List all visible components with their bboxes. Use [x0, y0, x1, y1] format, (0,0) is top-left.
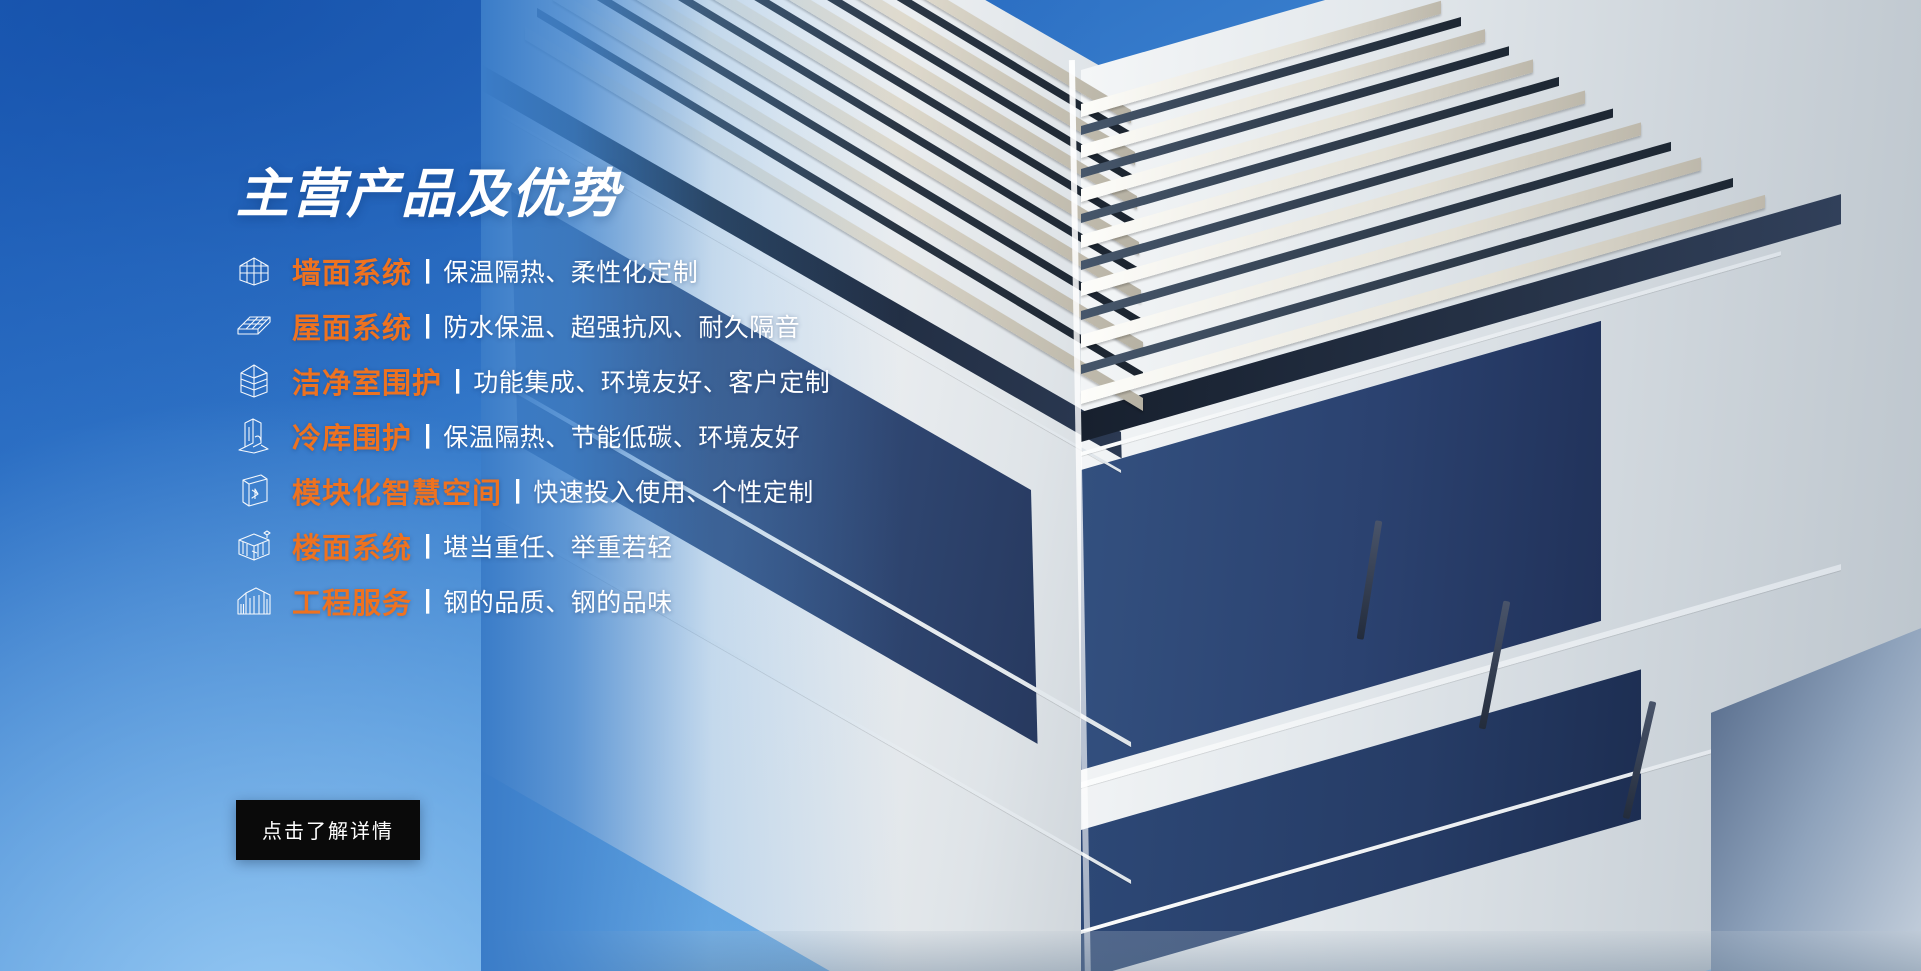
list-item-title: 墙面系统 [292, 250, 412, 292]
product-list: 墙面系统 | 保温隔热、柔性化定制 屋面系统 | 防水保温、超强抗风、耐久隔音 [232, 243, 992, 628]
list-item-title: 屋面系统 [292, 305, 412, 347]
cleanroom-building-wireframe-icon [232, 361, 276, 401]
divider: | [424, 584, 431, 615]
list-item[interactable]: 楼面系统 | 堪当重任、举重若轻 [232, 518, 992, 573]
modular-cube-wireframe-icon [232, 471, 276, 511]
divider: | [424, 529, 431, 560]
divider: | [424, 309, 431, 340]
list-item[interactable]: 屋面系统 | 防水保温、超强抗风、耐久隔音 [232, 298, 992, 353]
list-item-desc: 防水保温、超强抗风、耐久隔音 [443, 308, 800, 344]
divider: | [514, 474, 521, 505]
list-item[interactable]: 墙面系统 | 保温隔热、柔性化定制 [232, 243, 992, 298]
wall-panel-wireframe-icon [232, 251, 276, 291]
divider: | [424, 419, 431, 450]
list-item[interactable]: 工程服务 | 钢的品质、钢的品味 [232, 573, 992, 628]
banner-content: 主营产品及优势 墙面系统 | 保温隔热、柔性化定制 [0, 0, 1000, 971]
product-advantage-banner: 主营产品及优势 墙面系统 | 保温隔热、柔性化定制 [0, 0, 1921, 971]
list-item-title: 洁净室围护 [292, 360, 442, 402]
page-title: 主营产品及优势 [236, 168, 621, 221]
list-item-desc: 钢的品质、钢的品味 [443, 583, 673, 619]
list-item-desc: 保温隔热、节能低碳、环境友好 [443, 418, 800, 454]
list-item-desc: 功能集成、环境友好、客户定制 [473, 363, 830, 399]
divider: | [424, 254, 431, 285]
learn-more-button[interactable]: 点击了解详情 [236, 800, 420, 860]
list-item-desc: 保温隔热、柔性化定制 [443, 253, 698, 289]
list-item[interactable]: 冷库围护 | 保温隔热、节能低碳、环境友好 [232, 408, 992, 463]
list-item-title: 工程服务 [292, 580, 412, 622]
list-item-desc: 堪当重任、举重若轻 [443, 528, 673, 564]
cold-storage-wireframe-icon [232, 416, 276, 456]
list-item-desc: 快速投入使用、个性定制 [533, 473, 814, 509]
engineering-service-building-icon [232, 581, 276, 621]
list-item-title: 楼面系统 [292, 525, 412, 567]
list-item-title: 冷库围护 [292, 415, 412, 457]
roof-panel-wireframe-icon [232, 306, 276, 346]
list-item[interactable]: 洁净室围护 | 功能集成、环境友好、客户定制 [232, 353, 992, 408]
list-item-title: 模块化智慧空间 [292, 470, 502, 512]
floor-deck-module-wireframe-icon [232, 526, 276, 566]
list-item[interactable]: 模块化智慧空间 | 快速投入使用、个性定制 [232, 463, 992, 518]
divider: | [454, 364, 461, 395]
